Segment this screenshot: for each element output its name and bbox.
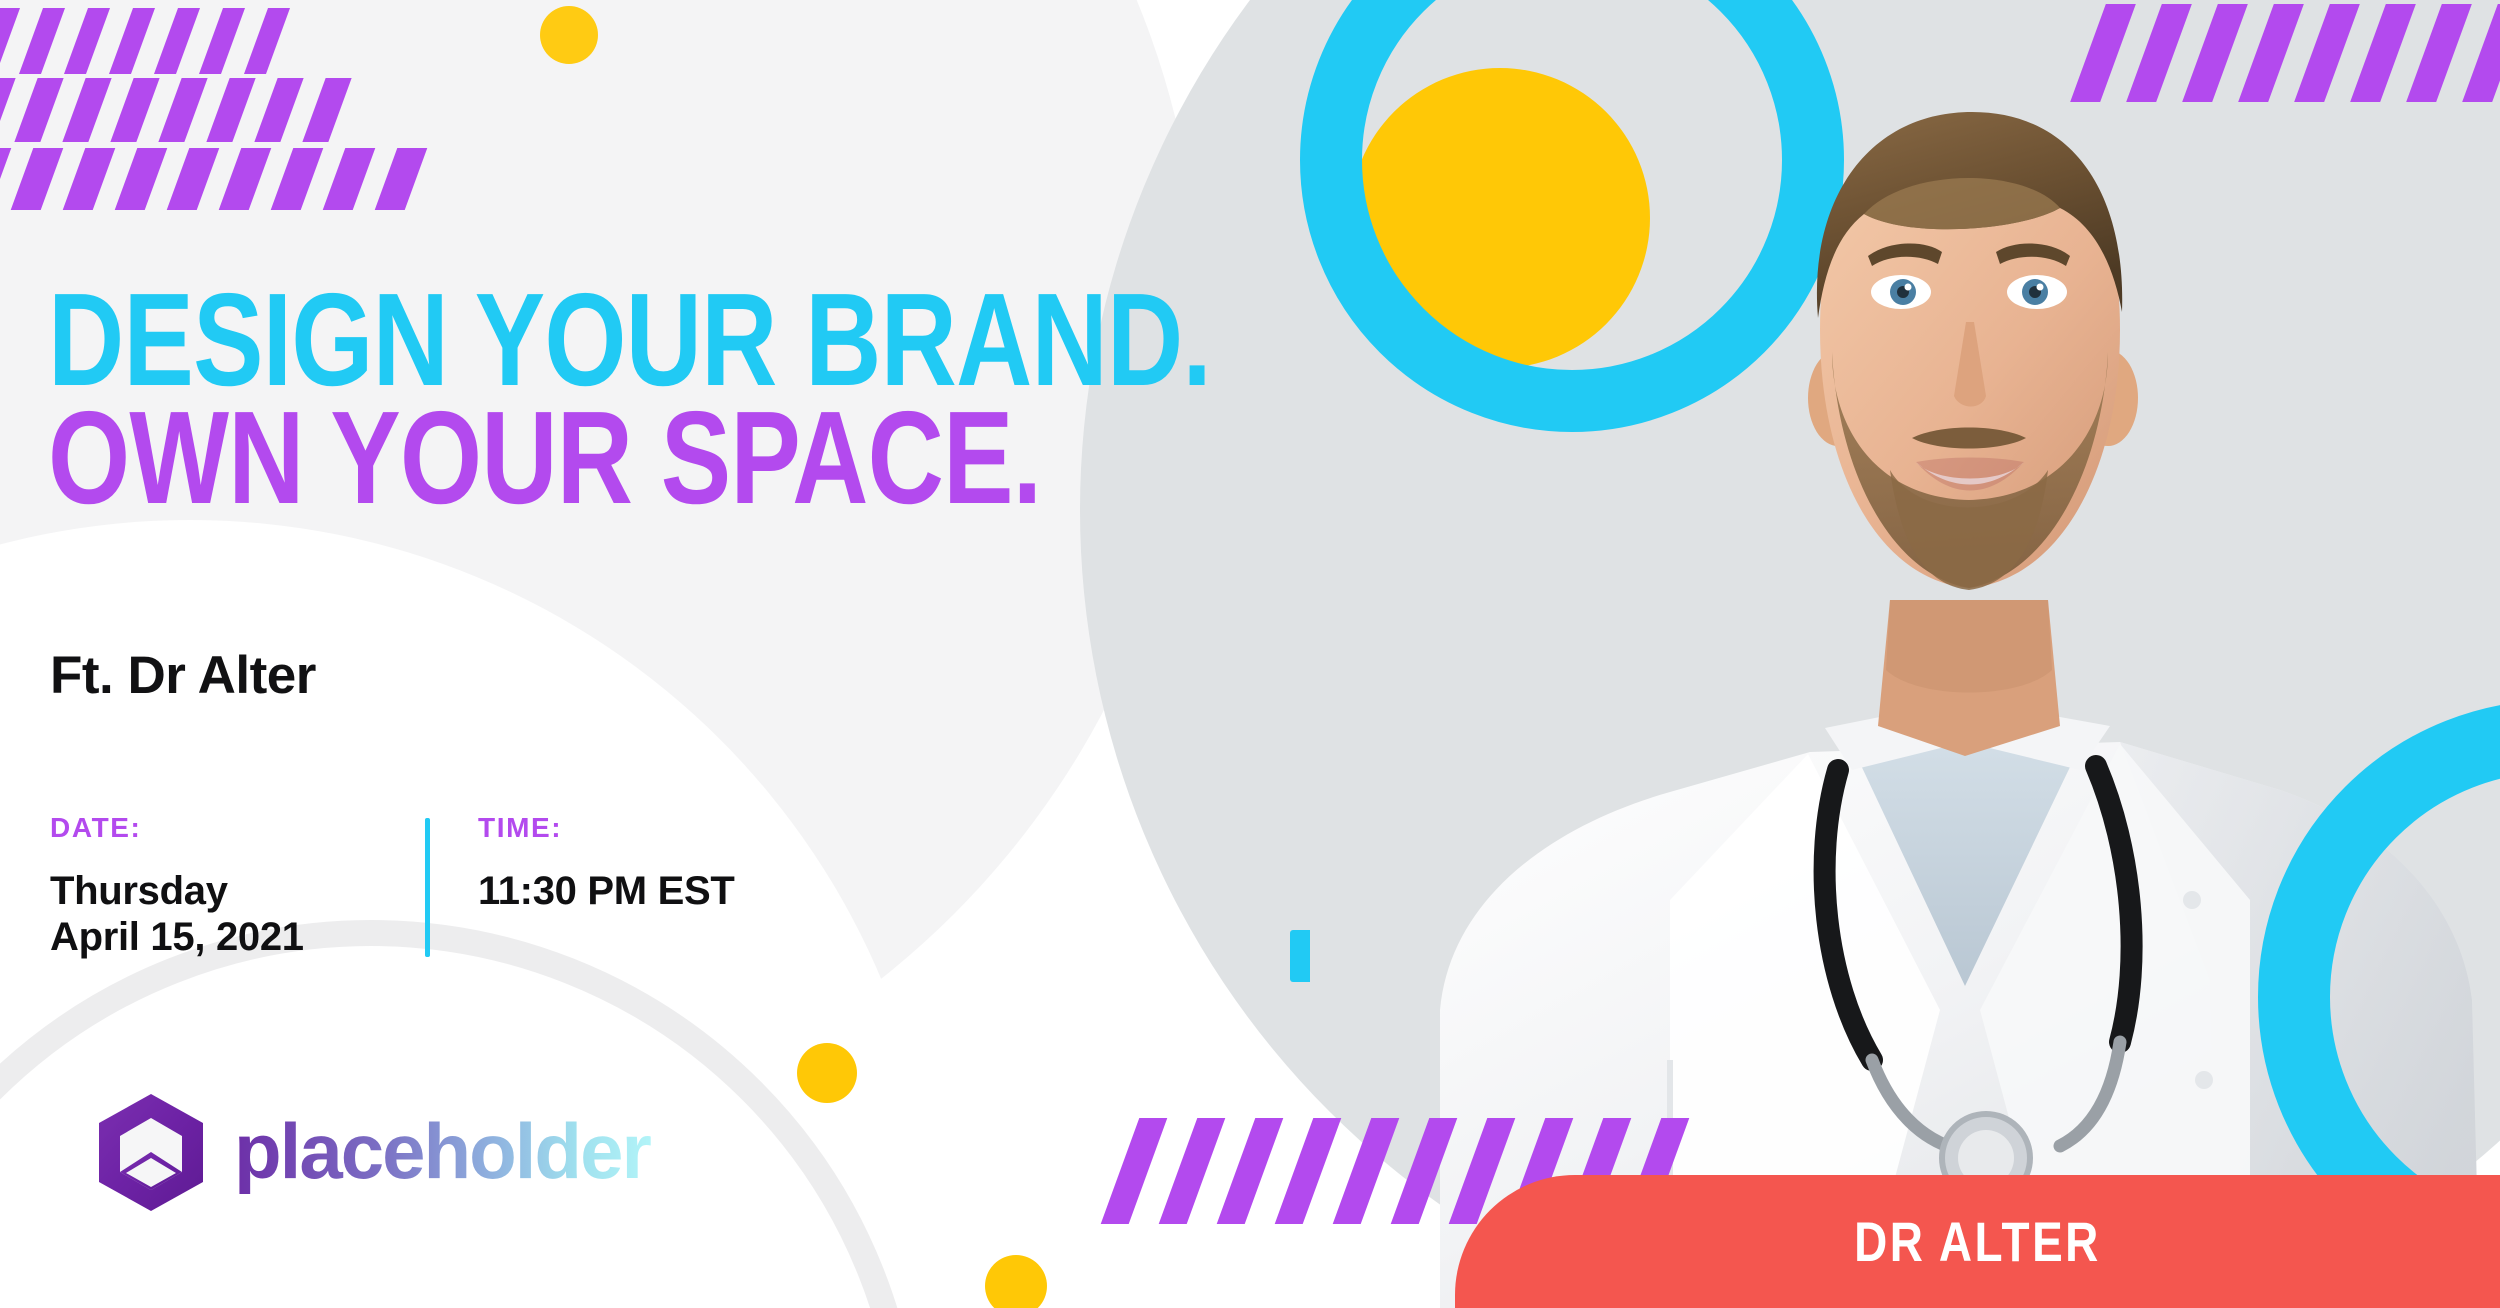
svg-text:placeholder: placeholder	[234, 1108, 651, 1195]
event-details: DATE: Thursday April 15, 2021 TIME: 11:3…	[50, 812, 735, 961]
time-value: 11:30 PM EST	[478, 868, 735, 914]
speaker-name-banner: DR ALTER	[1455, 1175, 2500, 1308]
event-time-block: TIME: 11:30 PM EST	[430, 812, 735, 961]
date-value: Thursday April 15, 2021	[50, 868, 425, 961]
time-label: TIME:	[478, 812, 735, 844]
hexagon-cube-logo-icon	[90, 1092, 212, 1220]
brand-logo[interactable]: placeholder	[90, 1092, 654, 1220]
headline-line-1: DESIGN YOUR BRAND.	[48, 286, 1088, 394]
date-label: DATE:	[50, 812, 425, 844]
stripe-group-top-right	[2088, 4, 2500, 102]
headline: DESIGN YOUR BRAND. OWN YOUR SPACE.	[48, 286, 1348, 512]
event-date-block: DATE: Thursday April 15, 2021	[50, 812, 425, 961]
speaker-name-label: DR ALTER	[1854, 1209, 2101, 1274]
banner-content: DESIGN YOUR BRAND. OWN YOUR SPACE. Ft. D…	[48, 0, 1248, 1308]
headline-line-2: OWN YOUR SPACE.	[48, 404, 1088, 512]
portrait-head	[1808, 112, 2138, 590]
webinar-banner: DR ALTER DESIGN YOUR BRAND. OWN YOUR SPA…	[0, 0, 2500, 1308]
logo-wordmark: placeholder	[234, 1108, 654, 1204]
cyan-square-accent	[1290, 930, 1310, 982]
subtitle: Ft. Dr Alter	[50, 645, 316, 706]
